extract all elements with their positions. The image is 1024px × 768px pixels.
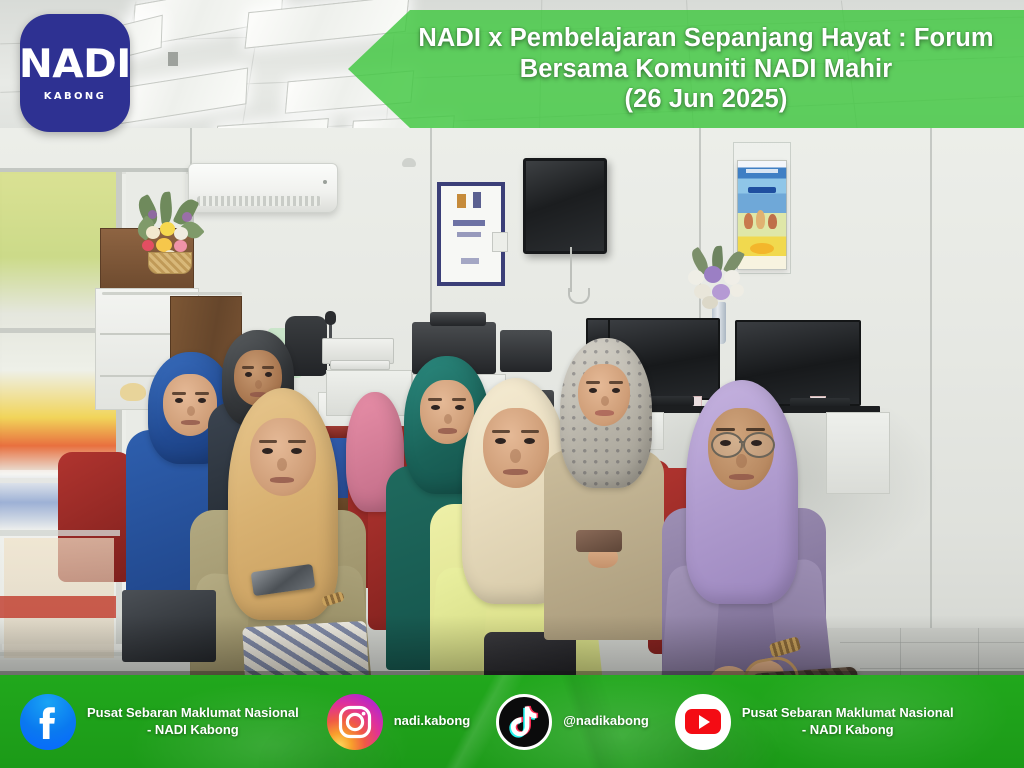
nadi-logo: NADI KABONG [20,14,130,132]
social-facebook[interactable]: Pusat Sebaran Maklumat Nasional - NADI K… [20,694,299,750]
wall-switch[interactable] [492,232,508,252]
printer-right [500,330,552,372]
instagram-icon[interactable] [327,694,383,750]
wall-mounted-tv [523,158,607,254]
page-title: NADI x Pembelajaran Sepanjang Hayat : Fo… [362,23,1009,114]
tiktok-icon[interactable] [496,694,552,750]
cabinet-item [120,383,146,401]
security-camera-icon [402,158,416,167]
flower-basket [148,252,192,274]
microphone-head [325,311,336,325]
facebook-icon[interactable] [20,694,76,750]
air-conditioner [188,163,338,213]
tv-cable [570,247,572,292]
social-footer: Pusat Sebaran Maklumat Nasional - NADI K… [0,675,1024,768]
event-poster: NADI x Pembelajaran Sepanjang Hayat : Fo… [0,0,1024,768]
social-youtube[interactable]: Pusat Sebaran Maklumat Nasional - NADI K… [675,694,954,750]
youtube-icon[interactable] [675,694,731,750]
printer-tray [330,360,390,370]
social-instagram[interactable]: nadi.kabong [327,694,471,750]
printer-lid [430,312,486,326]
youtube-play-box [685,709,721,734]
title-banner: NADI x Pembelajaran Sepanjang Hayat : Fo… [348,10,1024,128]
play-triangle-icon [699,715,710,729]
social-tiktok[interactable]: @nadikabong [496,694,649,750]
youtube-label: Pusat Sebaran Maklumat Nasional - NADI K… [742,705,954,738]
shelf-glass [0,530,120,536]
photo-bottom-shade [0,615,1024,675]
logo-name: NADI [19,45,131,84]
small-pouch [576,530,622,552]
under-desk-panel [826,412,890,494]
vase-flowers [684,248,754,310]
facebook-label: Pusat Sebaran Maklumat Nasional - NADI K… [87,705,299,738]
cabinet-rail [102,292,242,295]
instagram-label: nadi.kabong [394,713,471,729]
logo-branch: KABONG [44,91,107,102]
tiktok-label: @nadikabong [563,713,649,729]
